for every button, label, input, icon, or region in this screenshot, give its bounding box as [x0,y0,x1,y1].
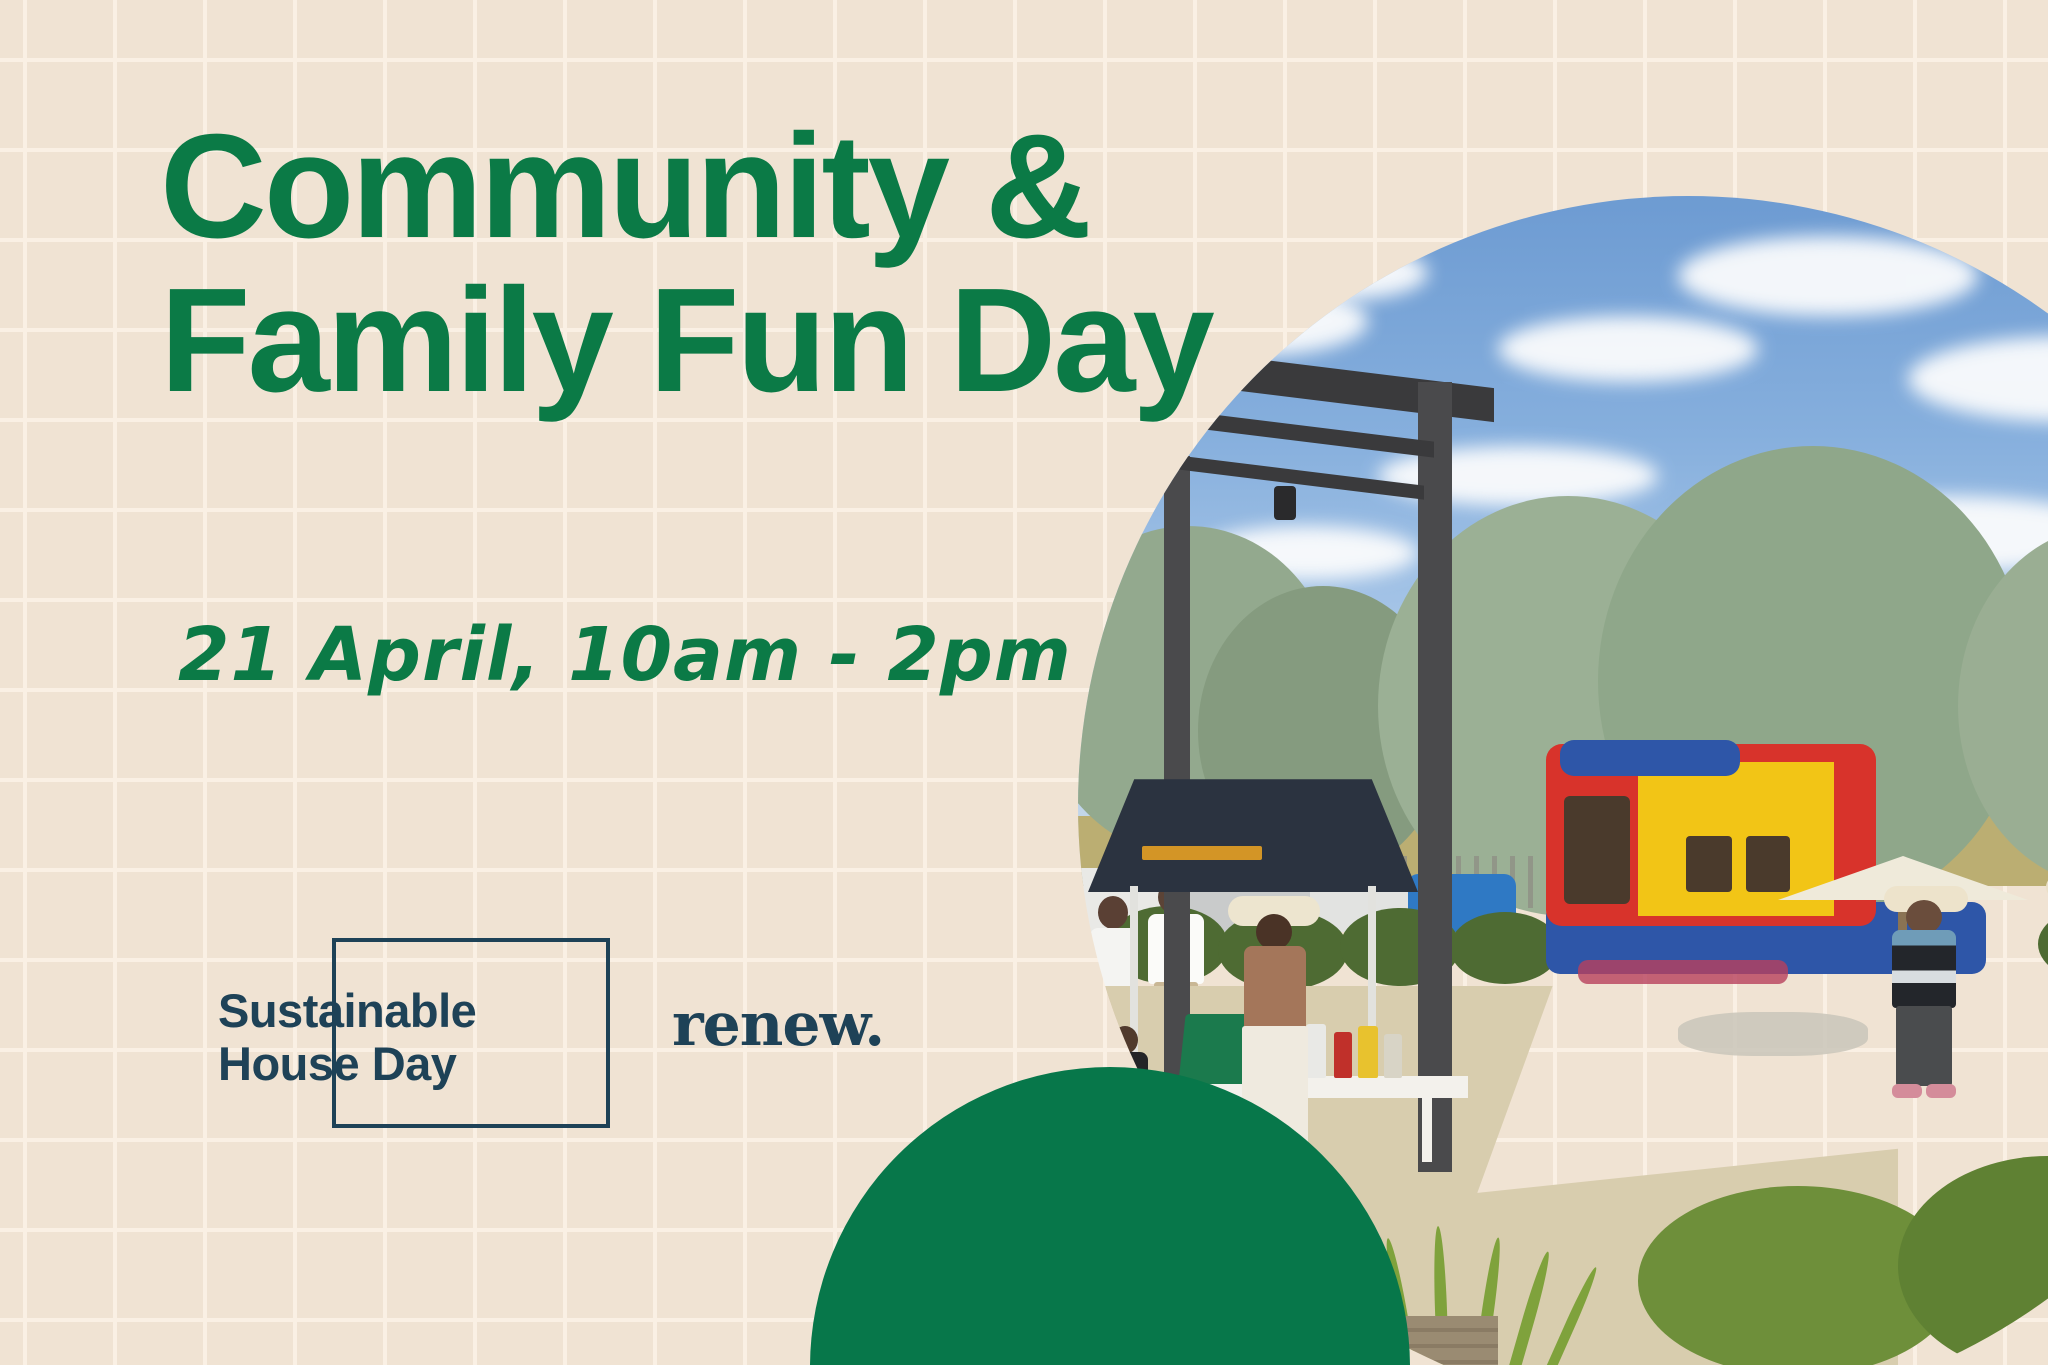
person-head [1256,914,1292,950]
person [2038,876,2048,1096]
trestle-table-leg [1422,1096,1432,1162]
pergola-light [1274,486,1296,520]
marquee-brand-label [1142,846,1262,860]
person [1878,886,1974,1116]
person-body [1892,930,1956,1008]
bottle [1358,1026,1378,1078]
headline-line-2: Family Fun Day [160,264,1260,418]
sustainable-house-day-logo-text: Sustainable House Day [218,985,476,1090]
page-title: Community & Family Fun Day [160,110,1260,418]
bottle [1384,1034,1402,1078]
bouncy-castle-window [1564,796,1630,904]
renew-logo: renew. [672,990,884,1060]
headline-line-1: Community & [160,110,1260,264]
picnic-rug [1678,1012,1868,1056]
person-legs [1896,1006,1952,1086]
bush [1450,912,1560,984]
bouncy-castle-window [1686,836,1732,892]
marquee-canopy [1088,772,1418,892]
person-head [1112,1026,1138,1054]
cloud [1258,246,1428,300]
bouncy-castle-mat [1578,960,1788,984]
person-body [1244,946,1306,1030]
promo-poster: Community & Family Fun Day 21 April, 10a… [0,0,2048,1365]
cloud [1678,236,1978,316]
person-shoe [1926,1084,1956,1098]
cloud [1498,316,1758,382]
bouncy-castle-window [1746,836,1790,892]
person-shoe [1892,1084,1922,1098]
bottle [1334,1032,1352,1078]
person-head [1906,900,1942,934]
event-date-time: 21 April, 10am - 2pm [178,612,1072,698]
bouncy-castle-roof [1560,740,1740,776]
person-head [1098,896,1128,929]
pergola-post [1418,382,1452,1172]
